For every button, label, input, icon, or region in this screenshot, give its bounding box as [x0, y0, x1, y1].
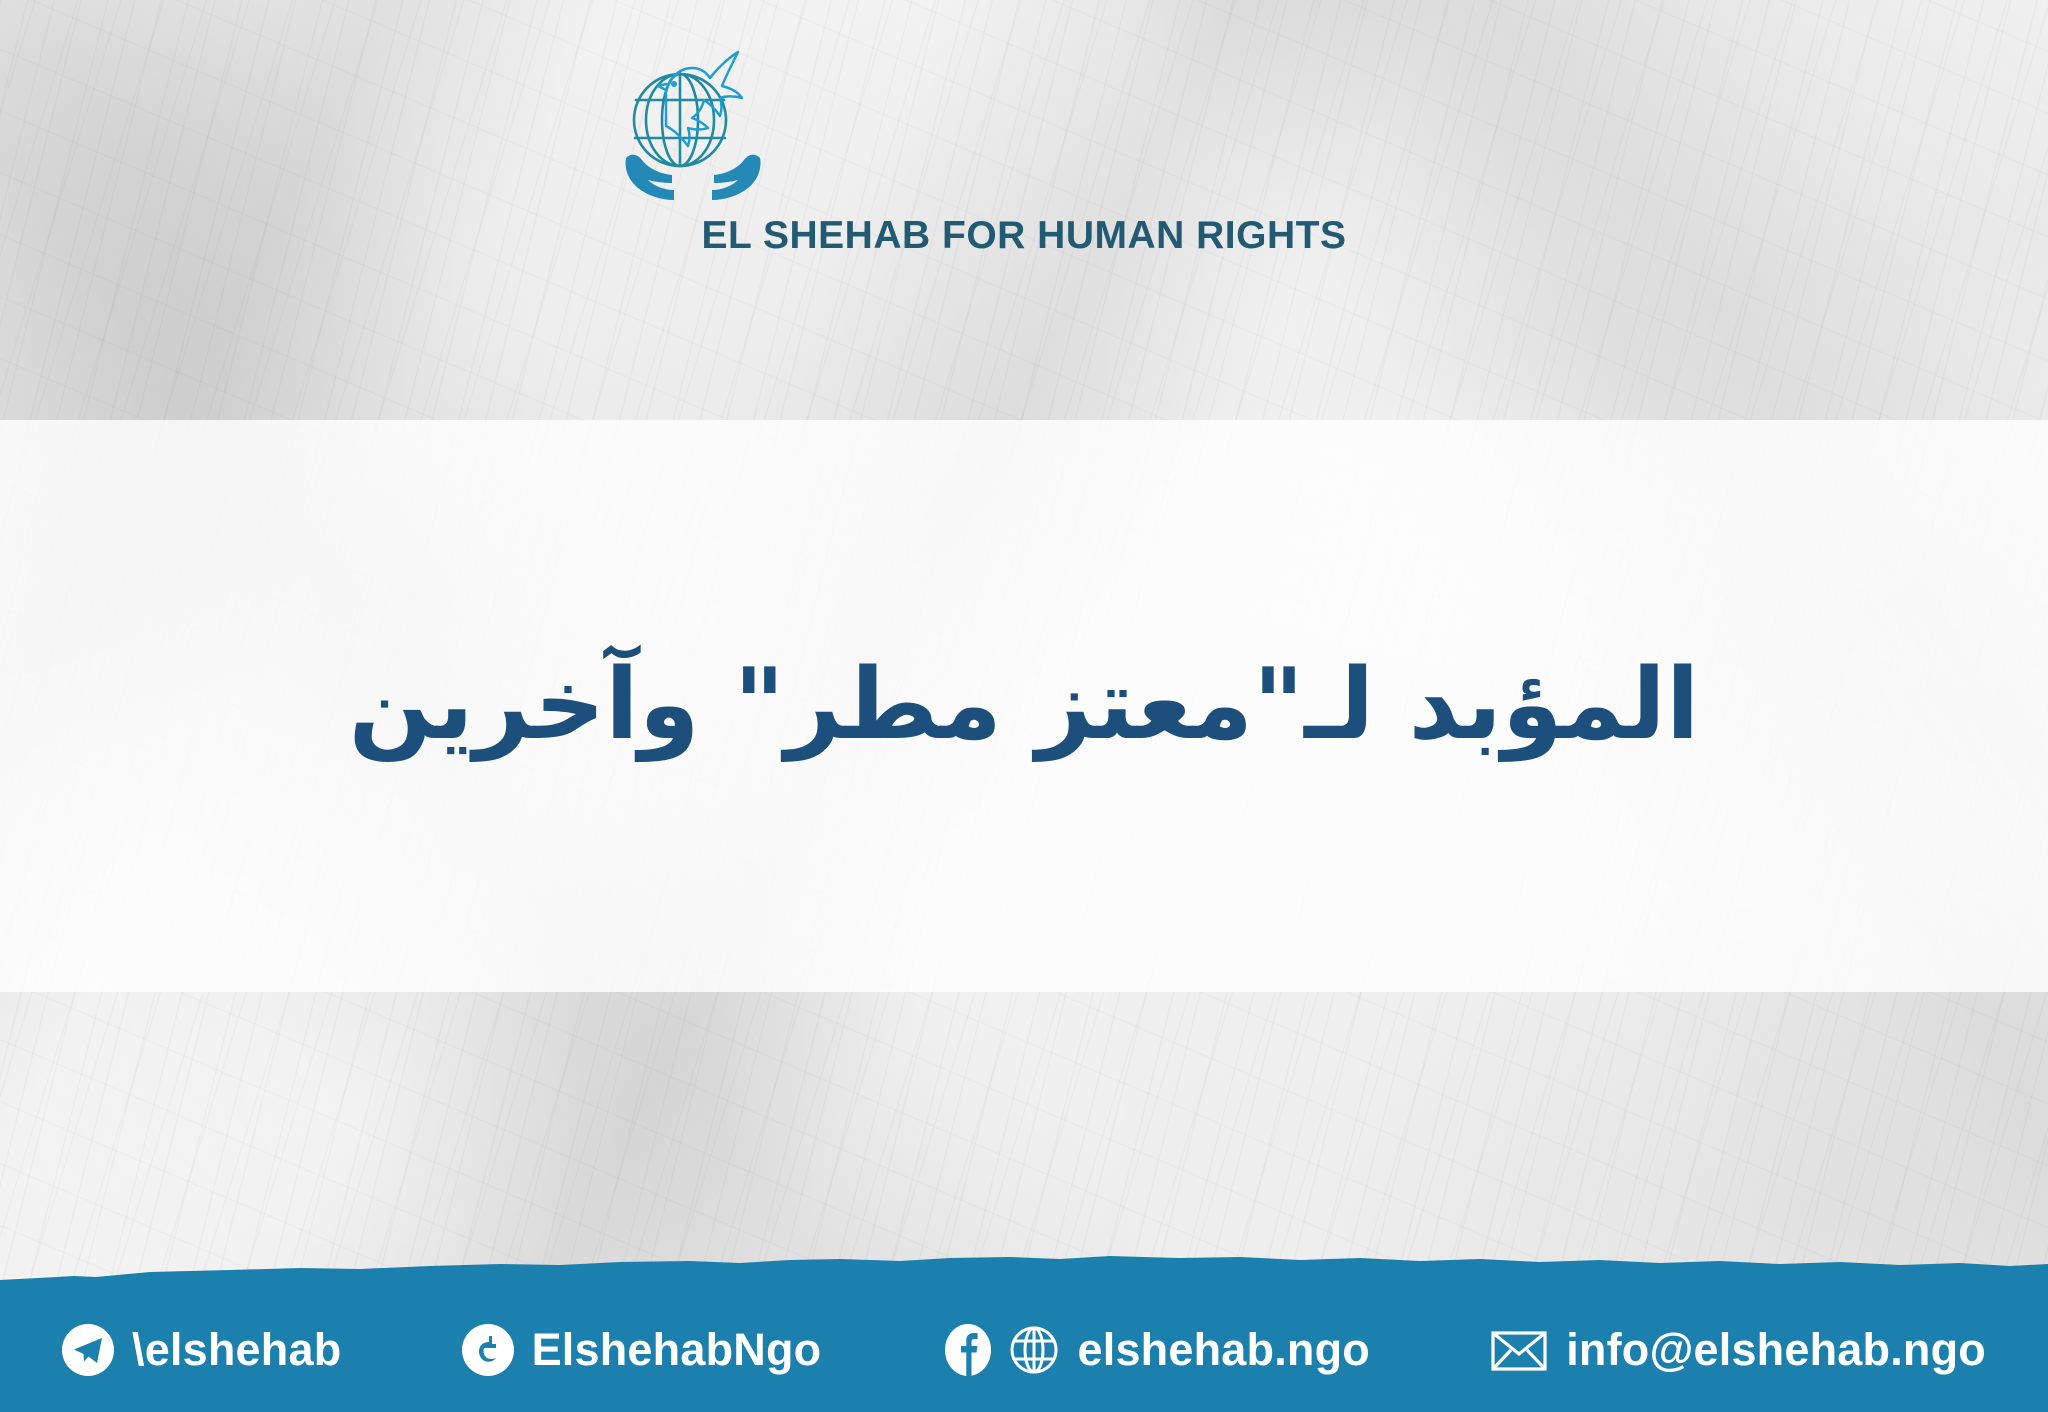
envelope-icon [1490, 1327, 1548, 1373]
email-icons [1490, 1327, 1548, 1373]
twitter-handle: ElshehabNgo [532, 1324, 822, 1376]
logo-arabic-text: الشهاب لحقوق الإنسان [1426, 72, 1430, 185]
logo-english-name: EL SHEHAB FOR HUMAN RIGHTS [702, 214, 1347, 258]
website-icons [942, 1324, 1060, 1376]
footer: \elshehab ElshehabNgo [0, 1256, 2048, 1412]
headline-container: المؤبد لـ"معتز مطر" وآخرين [0, 420, 2048, 992]
contact-twitter[interactable]: ElshehabNgo [462, 1324, 822, 1376]
facebook-icon [942, 1324, 994, 1376]
arabic-calligraphy-wordmark: الشهاب لحقوق الإنسان [790, 43, 1430, 203]
logo-row: الشهاب لحقوق الإنسان [618, 34, 1430, 212]
twitter-icons [462, 1324, 514, 1376]
twitter-icon [462, 1324, 514, 1376]
contact-email[interactable]: info@elshehab.ngo [1490, 1324, 1986, 1376]
website-url: elshehab.ngo [1078, 1324, 1370, 1376]
dove-globe-hands-icon [618, 34, 768, 212]
contact-telegram[interactable]: \elshehab [62, 1324, 341, 1376]
poster-canvas: الشهاب لحقوق الإنسان EL SHEHAB FOR HUMAN… [0, 0, 2048, 1412]
telegram-icons [62, 1324, 114, 1376]
telegram-icon [62, 1324, 114, 1376]
telegram-handle: \elshehab [132, 1324, 341, 1376]
headline-text: المؤبد لـ"معتز مطر" وآخرين [349, 636, 1700, 775]
globe-icon [1008, 1324, 1060, 1376]
organization-logo: الشهاب لحقوق الإنسان EL SHEHAB FOR HUMAN… [0, 34, 2048, 258]
footer-contacts: \elshehab ElshehabNgo [0, 1294, 2048, 1412]
contact-website[interactable]: elshehab.ngo [942, 1324, 1370, 1376]
email-address: info@elshehab.ngo [1566, 1324, 1986, 1376]
